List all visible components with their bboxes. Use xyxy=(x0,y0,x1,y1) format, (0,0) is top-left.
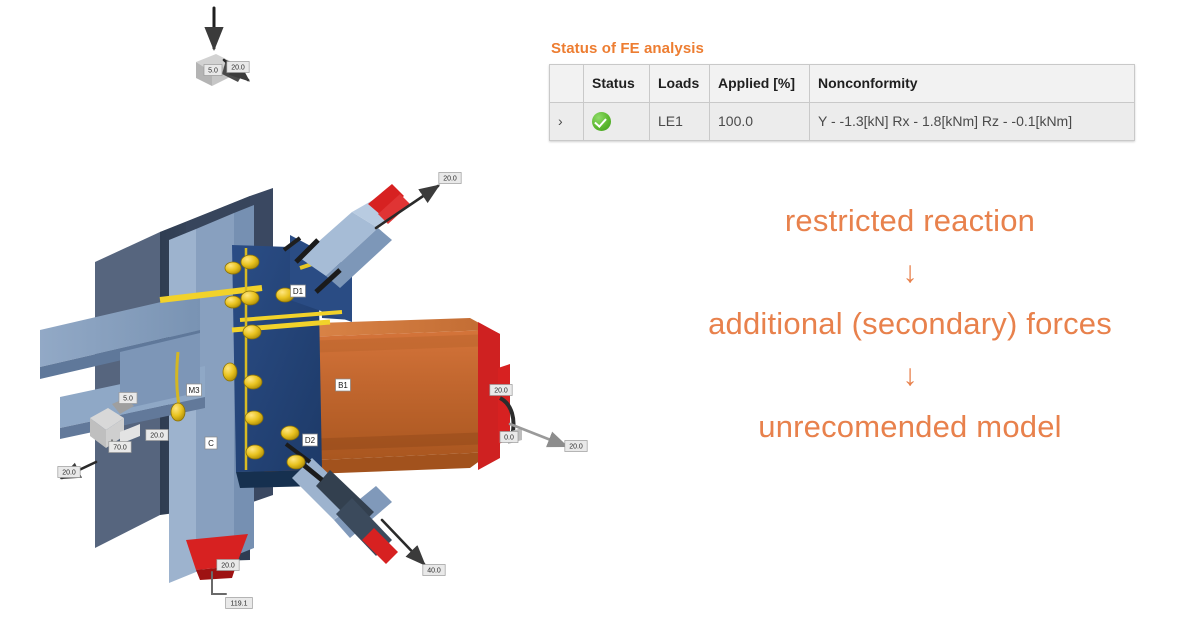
conclusion-line-additional-forces: additional (secondary) forces xyxy=(620,308,1200,339)
base-plate xyxy=(186,534,248,580)
fe-analysis-table: Status Loads Applied [%] Nonconformity ›… xyxy=(549,64,1135,141)
conclusion-block: restricted reaction ↓ additional (second… xyxy=(620,205,1200,442)
dimension-label-brace-bottom: 40.0 xyxy=(423,565,445,576)
column-header-applied[interactable]: Applied [%] xyxy=(710,64,810,102)
part-label-text-C: C xyxy=(208,439,214,448)
part-label-B1: B1 xyxy=(336,379,351,391)
dimension-label-top-load-a: 5.0 xyxy=(204,65,222,76)
part-label-M3: M3 xyxy=(187,384,202,396)
part-label-text-M3: M3 xyxy=(188,386,200,395)
column-header-loads[interactable]: Loads xyxy=(650,64,710,102)
dimension-label-brace-top: 20.0 xyxy=(439,173,461,184)
row-status-cell xyxy=(584,102,650,140)
down-arrow-icon-2: ↓ xyxy=(620,361,1200,391)
part-label-text-D1: D1 xyxy=(293,287,304,296)
down-arrow-icon-1: ↓ xyxy=(620,258,1200,288)
dimension-label-text-top-load-b: 20.0 xyxy=(231,65,245,72)
column-header-status[interactable]: Status xyxy=(584,64,650,102)
dimension-label-text-base-reaction: 119.1 xyxy=(231,601,248,608)
conclusion-line-unrecomended-model: unrecomended model xyxy=(620,411,1200,442)
table-row[interactable]: › LE1 100.0 Y - -1.3[kN] Rx - 1.8[kNm] R… xyxy=(550,102,1135,140)
part-label-C: C xyxy=(205,437,217,449)
part-label-text-B1: B1 xyxy=(338,381,348,390)
row-loads-value: LE1 xyxy=(650,102,710,140)
dimension-label-text-left-arrow: 20.0 xyxy=(62,470,76,477)
dimension-label-right-small: 0.0 xyxy=(500,432,518,443)
connection-model-illustration: 5.020.020.05.020.070.020.020.00.020.040.… xyxy=(0,0,620,630)
dimension-label-left-flange: 20.0 xyxy=(146,430,168,441)
dimension-label-left-web: 5.0 xyxy=(119,393,137,404)
dimension-label-base-reaction: 119.1 xyxy=(226,598,253,609)
part-label-D1: D1 xyxy=(291,285,306,297)
column-header-expand[interactable] xyxy=(550,64,584,102)
dimension-label-text-brace-bottom: 40.0 xyxy=(427,568,441,575)
status-of-fe-analysis-panel: Status of FE analysis Status Loads Appli… xyxy=(549,41,1139,141)
part-label-text-D2: D2 xyxy=(305,436,316,445)
dimension-label-text-left-support: 70.0 xyxy=(113,445,127,452)
dimension-label-text-left-flange: 20.0 xyxy=(150,433,164,440)
dimension-label-text-top-load-a: 5.0 xyxy=(208,68,218,75)
fe-table-body: › LE1 100.0 Y - -1.3[kN] Rx - 1.8[kNm] R… xyxy=(550,102,1135,140)
dimension-label-text-right-red: 20.0 xyxy=(494,388,508,395)
row-applied-value: 100.0 xyxy=(710,102,810,140)
row-nonconformity-value: Y - -1.3[kN] Rx - 1.8[kNm] Rz - -0.1[kNm… xyxy=(810,102,1135,140)
dimension-label-right-red: 20.0 xyxy=(490,385,512,396)
slide-canvas: 5.020.020.05.020.070.020.020.00.020.040.… xyxy=(0,0,1200,630)
dimension-label-text-right-arrow: 20.0 xyxy=(569,444,583,451)
conclusion-line-restricted-reaction: restricted reaction xyxy=(620,205,1200,236)
dimension-label-left-support: 70.0 xyxy=(109,442,131,453)
dimension-label-right-arrow: 20.0 xyxy=(565,441,587,452)
check-circle-icon xyxy=(592,112,611,131)
dimension-label-text-base-red: 20.0 xyxy=(221,563,235,570)
column-header-nonconformity[interactable]: Nonconformity xyxy=(810,64,1135,102)
dimension-label-text-brace-top: 20.0 xyxy=(443,176,457,183)
dimension-label-left-arrow: 20.0 xyxy=(58,467,80,478)
fe-table-header: Status Loads Applied [%] Nonconformity xyxy=(550,64,1135,102)
dimension-label-top-load-b: 20.0 xyxy=(227,62,249,73)
dimension-label-base-red: 20.0 xyxy=(217,560,239,571)
status-panel-title: Status of FE analysis xyxy=(551,41,1139,58)
model-viewport[interactable]: 5.020.020.05.020.070.020.020.00.020.040.… xyxy=(0,0,620,630)
dimension-label-text-right-small: 0.0 xyxy=(504,435,514,442)
fe-table-header-row: Status Loads Applied [%] Nonconformity xyxy=(550,64,1135,102)
dimension-label-text-left-web: 5.0 xyxy=(123,396,133,403)
part-label-D2: D2 xyxy=(303,434,318,446)
row-expand-chevron-icon[interactable]: › xyxy=(550,102,584,140)
